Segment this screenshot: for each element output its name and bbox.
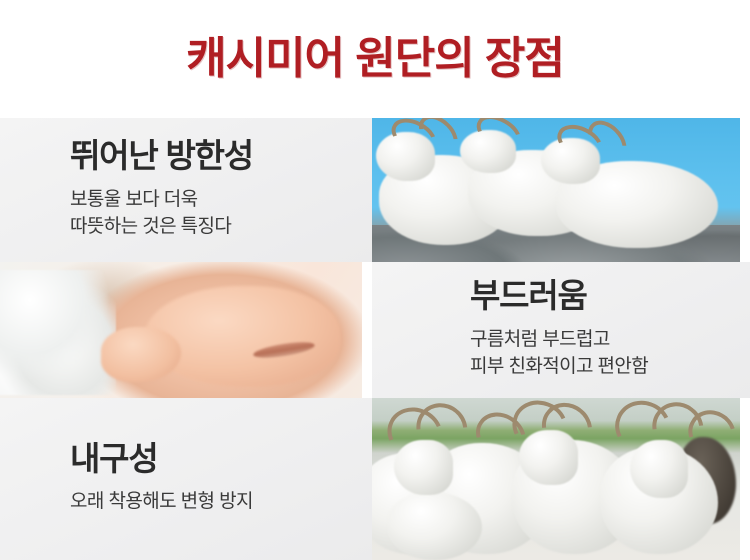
page-title: 캐시미어 원단의 장점 [186,37,564,81]
feature-desc-warmth-line2: 따뜻하는 것은 특징다 [70,214,372,241]
feature-desc-warmth-line1: 보통울 보다 더욱 [70,187,372,214]
soft-blanket [0,270,116,395]
baby-hand [101,327,181,381]
feature-title-durability: 내구성 [70,442,372,477]
feature-row-durability: 내구성 오래 착용해도 변형 방지 [0,398,750,560]
cashmere-goat-herd-photo [372,398,740,560]
feature-image-cell-durability [372,398,750,560]
feature-desc-durability: 오래 착용해도 변형 방지 [70,489,372,516]
feature-row-softness: 부드러움 구름처럼 부드럽고 피부 친화적이고 편안함 [0,262,750,398]
feature-desc-softness-line2: 피부 친화적이고 편안함 [470,354,750,381]
feature-image-cell-softness [0,262,372,398]
feature-desc-warmth: 보통울 보다 더욱 따뜻하는 것은 특징다 [70,187,372,241]
feature-desc-softness: 구름처럼 부드럽고 피부 친화적이고 편안함 [470,327,750,381]
baby-face [145,286,340,387]
feature-text-durability: 내구성 오래 착용해도 변형 방지 [0,398,372,560]
cashmere-goats-blue-sky-photo [372,118,740,262]
feature-row-warmth: 뛰어난 방한성 보통울 보다 더욱 따뜻하는 것은 특징다 [0,118,750,262]
feature-text-warmth: 뛰어난 방한성 보통울 보다 더욱 따뜻하는 것은 특징다 [0,118,372,262]
feature-desc-softness-line1: 구름처럼 부드럽고 [470,327,750,354]
feature-grid: 뛰어난 방한성 보통울 보다 더욱 따뜻하는 것은 특징다 [0,118,750,560]
sleeping-baby-photo [0,262,362,398]
feature-text-softness: 부드러움 구름처럼 부드럽고 피부 친화적이고 편안함 [372,262,750,398]
feature-title-softness: 부드러움 [470,279,750,314]
feature-title-warmth: 뛰어난 방한성 [70,139,372,174]
feature-desc-durability-line1: 오래 착용해도 변형 방지 [70,489,372,516]
goat-body [387,492,483,560]
title-banner: 캐시미어 원단의 장점 [0,0,750,118]
feature-image-cell-warmth [372,118,750,262]
